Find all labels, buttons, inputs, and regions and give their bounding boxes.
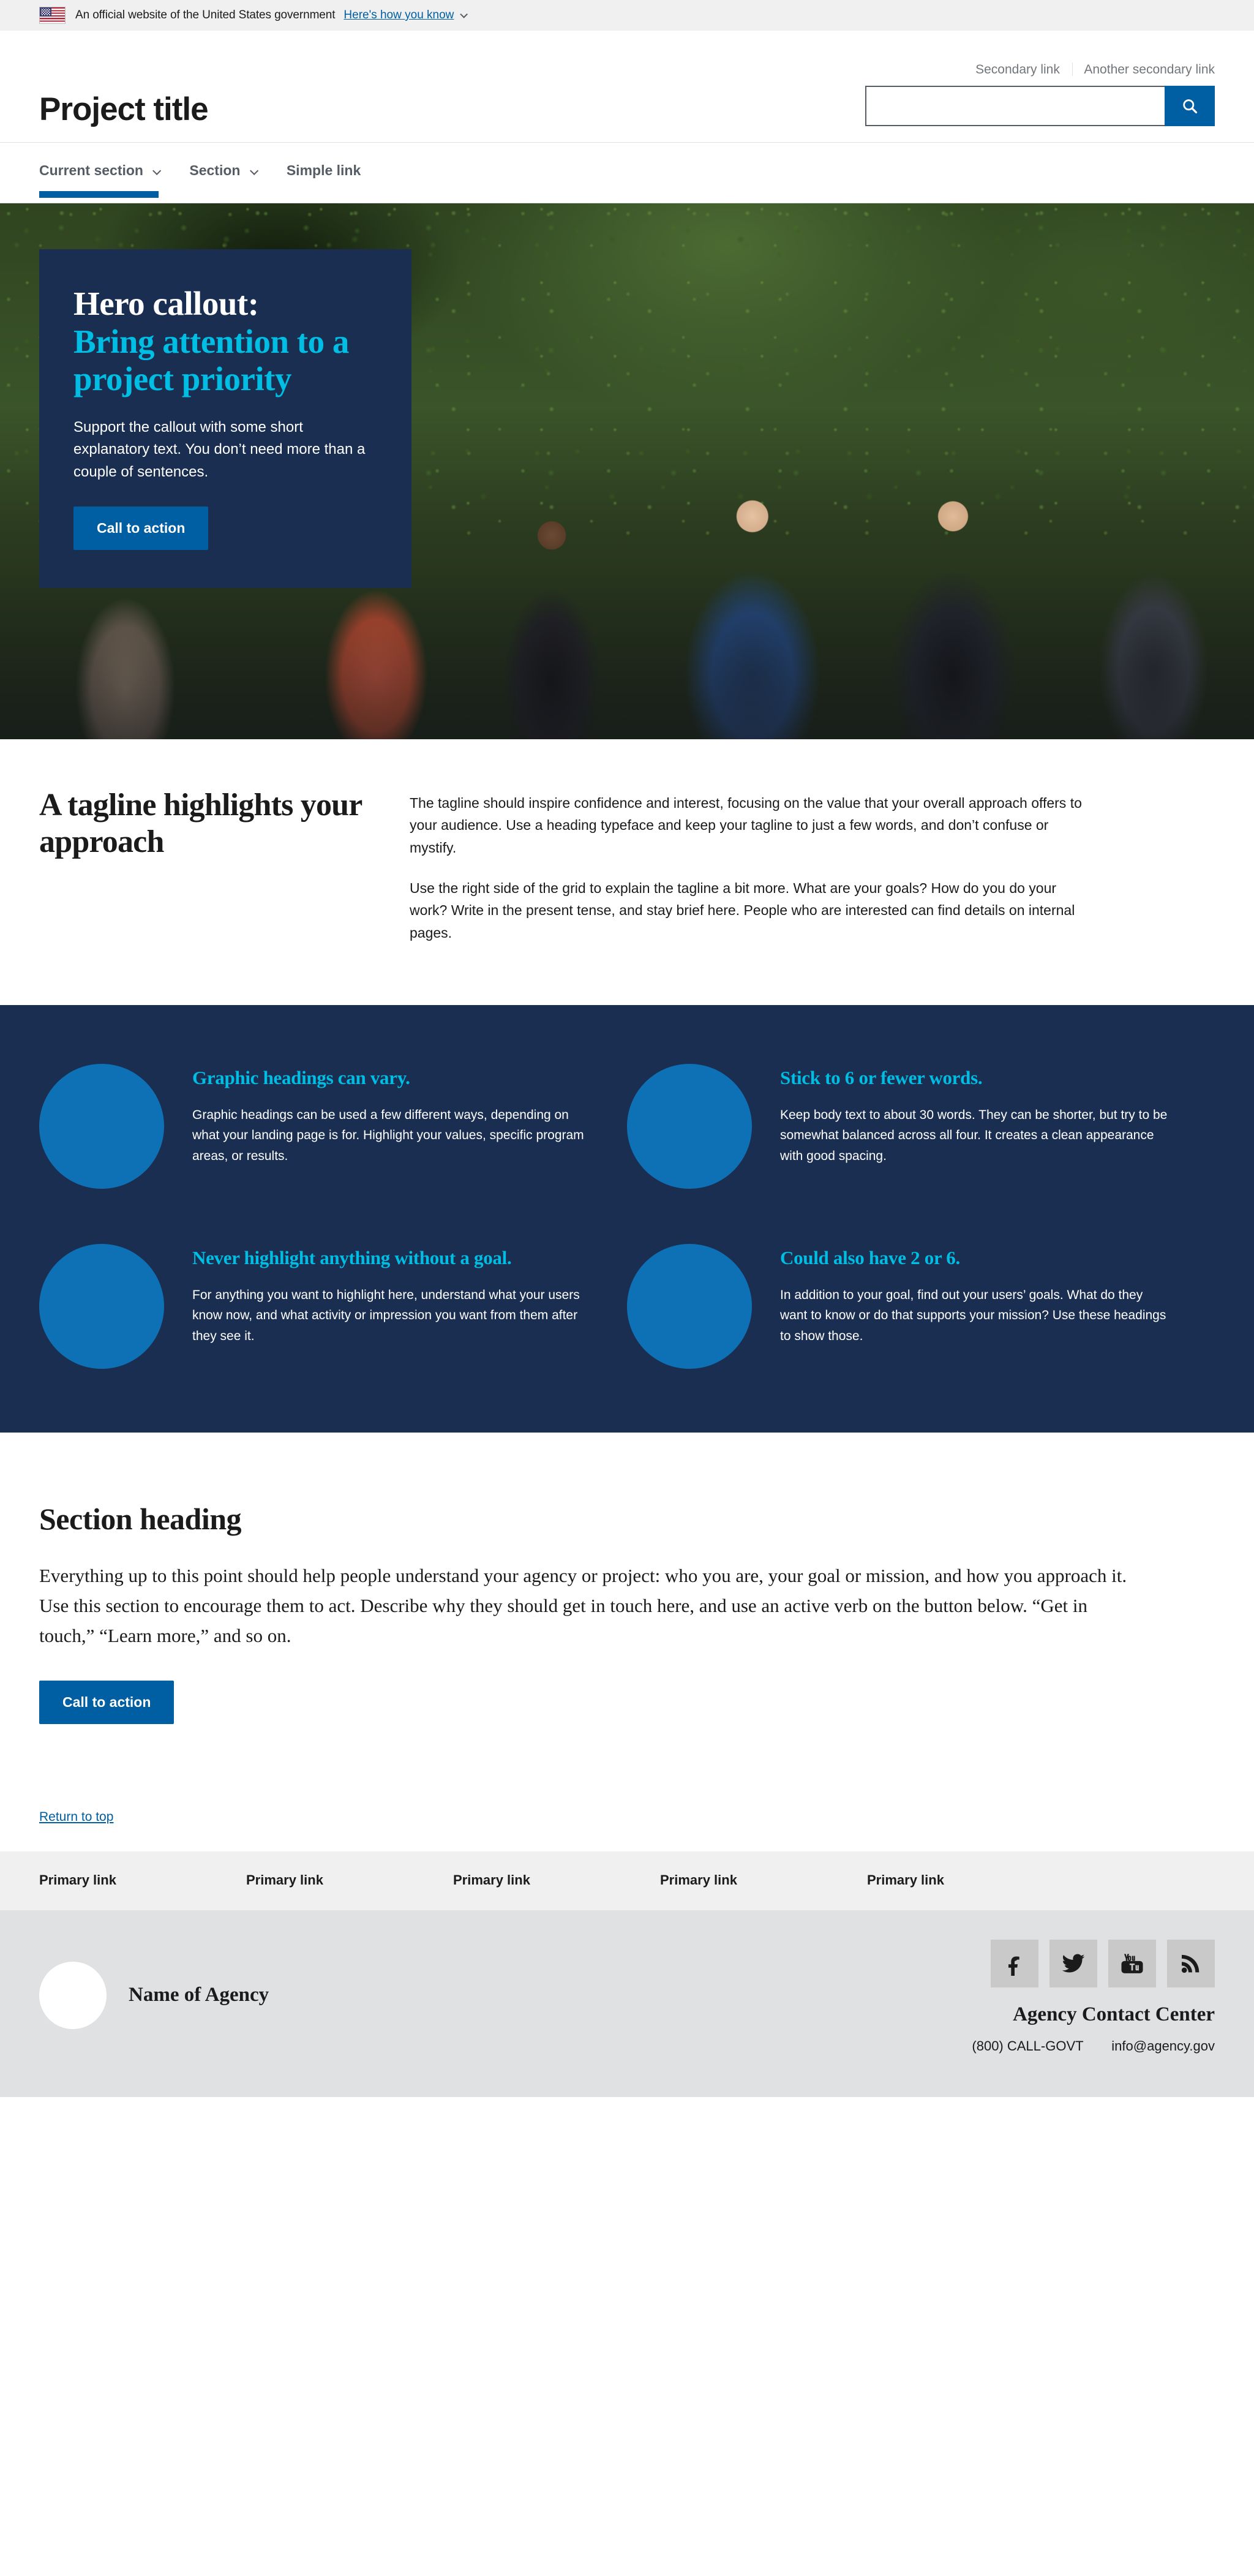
circle-placeholder-icon	[39, 1064, 164, 1189]
secondary-link-1[interactable]: Secondary link	[975, 62, 1060, 77]
graphic-card-text: Graphic headings can be used a few diffe…	[192, 1105, 584, 1166]
contact-email[interactable]: info@agency.gov	[1111, 2038, 1215, 2054]
graphic-card-heading: Never highlight anything without a goal.	[192, 1246, 584, 1269]
secondary-links-divider	[1072, 62, 1073, 76]
hero-section: Hero callout: Bring attention to a proje…	[0, 203, 1254, 739]
search-input[interactable]	[865, 86, 1165, 126]
nav-item-section[interactable]: Section	[189, 143, 255, 198]
agency-identifier: Name of Agency	[39, 1940, 269, 2029]
graphic-row: Graphic headings can vary. Graphic headi…	[39, 1064, 1215, 1189]
search-icon	[1181, 97, 1198, 115]
graphic-row: Never highlight anything without a goal.…	[39, 1244, 1215, 1369]
graphic-card-body: Could also have 2 or 6. In addition to y…	[780, 1244, 1172, 1369]
graphic-card-body: Stick to 6 or fewer words. Keep body tex…	[780, 1064, 1172, 1189]
tagline-body-column: The tagline should inspire confidence an…	[410, 787, 1095, 944]
graphic-list-section: Graphic headings can vary. Graphic headi…	[0, 1005, 1254, 1433]
footer-primary-link[interactable]: Primary link	[867, 1872, 1074, 1888]
facebook-icon	[1002, 1951, 1027, 1976]
graphic-card-text: In addition to your goal, find out your …	[780, 1285, 1172, 1346]
footer-secondary: Name of Agency	[0, 1910, 1254, 2097]
footer-primary-link[interactable]: Primary link	[246, 1872, 453, 1888]
youtube-icon	[1120, 1951, 1144, 1976]
agency-name: Name of Agency	[129, 1984, 269, 2006]
section-heading: Section heading	[39, 1501, 1215, 1537]
chevron-down-icon[interactable]	[460, 10, 468, 18]
hero-callout-highlight: Bring attention to a project priority	[73, 323, 377, 398]
graphic-card: Graphic headings can vary. Graphic headi…	[39, 1064, 627, 1189]
footer-primary-link[interactable]: Primary link	[39, 1872, 246, 1888]
tagline-heading-column: A tagline highlights your approach	[39, 787, 410, 944]
us-flag-icon	[39, 7, 66, 24]
twitter-link[interactable]	[1049, 1940, 1097, 1987]
nav-item-label: Section	[189, 162, 240, 178]
graphic-card-heading: Stick to 6 or fewer words.	[780, 1066, 1172, 1089]
search-form	[865, 86, 1215, 126]
nav-item-label: Simple link	[287, 162, 361, 178]
hero-callout-label: Hero callout:	[73, 285, 259, 322]
section-heading-block: Section heading Everything up to this po…	[0, 1433, 1254, 1749]
hero-call-to-action-button[interactable]: Call to action	[73, 507, 208, 550]
nav-item-label: Current section	[39, 162, 143, 178]
facebook-link[interactable]	[991, 1940, 1038, 1987]
footer-primary-link[interactable]: Primary link	[660, 1872, 867, 1888]
tagline-paragraph-1: The tagline should inspire confidence an…	[410, 792, 1095, 859]
graphic-card-body: Graphic headings can vary. Graphic headi…	[192, 1064, 584, 1189]
return-to-top-link[interactable]: Return to top	[39, 1810, 113, 1824]
agency-contact-block: Agency Contact Center (800) CALL-GOVT in…	[972, 1940, 1215, 2054]
chevron-down-icon	[152, 167, 161, 175]
rss-icon	[1179, 1951, 1203, 1976]
graphic-card: Could also have 2 or 6. In addition to y…	[627, 1244, 1215, 1369]
nav-item-simple-link[interactable]: Simple link	[287, 143, 361, 198]
contact-details: (800) CALL-GOVT info@agency.gov	[972, 2038, 1215, 2054]
hero-callout: Hero callout: Bring attention to a proje…	[39, 249, 411, 588]
graphic-card-text: Keep body text to about 30 words. They c…	[780, 1105, 1172, 1166]
search-button[interactable]	[1165, 86, 1215, 126]
agency-seal-icon	[39, 1962, 107, 2029]
gov-banner-text: An official website of the United States…	[75, 9, 335, 22]
secondary-links: Secondary link Another secondary link	[865, 62, 1215, 77]
return-to-top-row: Return to top	[0, 1749, 1254, 1851]
graphic-card: Stick to 6 or fewer words. Keep body tex…	[627, 1064, 1215, 1189]
social-links-row	[972, 1940, 1215, 1987]
heres-how-you-know-link[interactable]: Here's how you know	[344, 9, 454, 22]
site-header: Project title Secondary link Another sec…	[0, 31, 1254, 143]
site-footer: Primary link Primary link Primary link P…	[0, 1851, 1254, 2097]
graphic-card-heading: Graphic headings can vary.	[192, 1066, 584, 1089]
youtube-link[interactable]	[1108, 1940, 1156, 1987]
contact-phone[interactable]: (800) CALL-GOVT	[972, 2038, 1083, 2054]
chevron-down-icon	[250, 167, 258, 175]
section-body-text: Everything up to this point should help …	[39, 1561, 1141, 1651]
graphic-card-body: Never highlight anything without a goal.…	[192, 1244, 584, 1369]
graphic-card-text: For anything you want to highlight here,…	[192, 1285, 584, 1346]
page-title: Project title	[39, 91, 208, 128]
primary-navigation: Current section Section Simple link	[0, 143, 1254, 203]
contact-center-title: Agency Contact Center	[972, 2003, 1215, 2026]
circle-placeholder-icon	[39, 1244, 164, 1369]
nav-item-current-section[interactable]: Current section	[39, 143, 159, 198]
footer-primary-link[interactable]: Primary link	[453, 1872, 660, 1888]
secondary-link-2[interactable]: Another secondary link	[1084, 62, 1215, 77]
hero-heading: Hero callout: Bring attention to a proje…	[73, 285, 377, 398]
graphic-card-heading: Could also have 2 or 6.	[780, 1246, 1172, 1269]
footer-primary-links: Primary link Primary link Primary link P…	[0, 1851, 1254, 1910]
gov-banner: An official website of the United States…	[0, 0, 1254, 31]
tagline-paragraph-2: Use the right side of the grid to explai…	[410, 877, 1095, 944]
tagline-heading: A tagline highlights your approach	[39, 787, 385, 861]
section-call-to-action-button[interactable]: Call to action	[39, 1681, 174, 1724]
graphic-card: Never highlight anything without a goal.…	[39, 1244, 627, 1369]
header-right: Secondary link Another secondary link	[865, 62, 1215, 126]
circle-placeholder-icon	[627, 1064, 752, 1189]
circle-placeholder-icon	[627, 1244, 752, 1369]
rss-link[interactable]	[1167, 1940, 1215, 1987]
tagline-section: A tagline highlights your approach The t…	[0, 739, 1254, 1005]
hero-body-text: Support the callout with some short expl…	[73, 416, 377, 483]
twitter-icon	[1061, 1951, 1086, 1976]
